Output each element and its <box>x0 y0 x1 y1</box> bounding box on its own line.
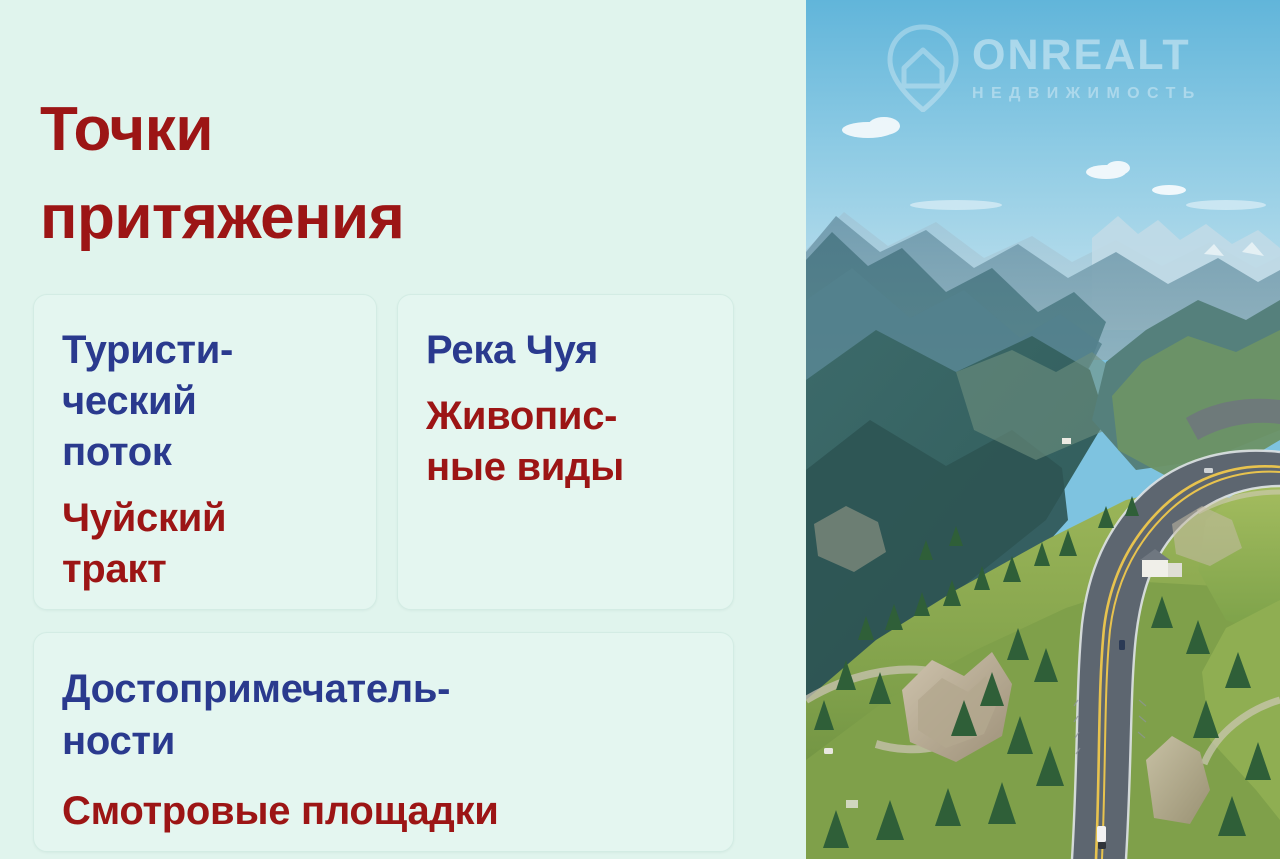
card-landmarks[interactable]: Достопримечатель- ности Смотровые площад… <box>33 632 734 852</box>
card-tourist-flow-line-1: Туристи- ческий поток <box>62 325 350 478</box>
card-landmarks-line-1: Достопримечатель- ности <box>62 663 707 767</box>
card-tourist-flow-line-2: Чуйский тракт <box>62 493 350 595</box>
card-chuya-river-line-2: Живопис- ные виды <box>426 391 707 493</box>
card-chuya-river-content: Река Чуя Живопис- ные виды <box>398 295 733 493</box>
mountain-landscape-photo <box>806 0 1280 859</box>
card-tourist-flow-content: Туристи- ческий поток Чуйский тракт <box>34 295 376 595</box>
card-tourist-flow[interactable]: Туристи- ческий поток Чуйский тракт <box>33 294 377 610</box>
card-chuya-river-line-1: Река Чуя <box>426 325 707 376</box>
left-content-panel: Точки притяжения Туристи- ческий поток Ч… <box>0 0 806 859</box>
poster-canvas: Точки притяжения Туристи- ческий поток Ч… <box>0 0 1280 859</box>
page-title: Точки притяжения <box>40 86 700 262</box>
card-chuya-river[interactable]: Река Чуя Живопис- ные виды <box>397 294 734 610</box>
card-landmarks-content: Достопримечатель- ности Смотровые площад… <box>34 633 733 837</box>
card-landmarks-line-2: Смотровые площадки <box>62 785 707 837</box>
